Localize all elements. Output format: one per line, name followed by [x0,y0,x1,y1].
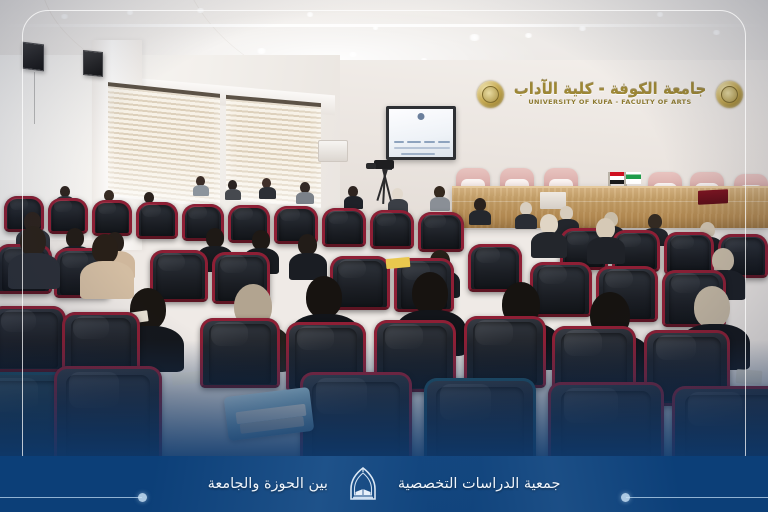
ceiling-light [712,30,721,35]
event-photograph: جامعة الكوفة - كلية الآداب UNIVERSITY OF… [0,0,768,460]
ceiling-light [348,52,358,57]
ceiling-light [656,12,664,17]
ceiling-light [60,14,69,19]
auditorium-seat [200,318,280,388]
university-seal-icon [477,81,504,108]
venue-sign-text: جامعة الكوفة - كلية الآداب UNIVERSITY OF… [514,82,707,106]
ceiling-light [126,10,134,15]
ceiling-light [524,33,533,38]
banner-content: بين الحوزة والجامعة جمعية الدراسات التخص… [0,456,768,512]
ceiling-light [256,48,267,54]
auditorium-seat [300,372,412,460]
auditorium-seat [0,306,66,372]
camera-lens-icon [366,163,376,169]
auditorium-seat [92,200,132,236]
auditorium-seat [548,382,664,460]
auditorium-seat [370,210,414,249]
speaker-cable [34,72,35,124]
camera-body-icon [374,160,394,169]
auditorium-seat [424,378,536,460]
auditorium-seat [54,366,162,460]
auditorium-seat [418,212,464,252]
venue-sign: جامعة الكوفة - كلية الآداب UNIVERSITY OF… [470,72,750,116]
yellow-folder [386,257,411,269]
photo-card: جامعة الكوفة - كلية الآداب UNIVERSITY OF… [0,0,768,512]
air-conditioner [318,140,348,162]
ceiling-light [196,8,205,13]
ceiling-light [306,12,314,17]
bottom-banner: بين الحوزة والجامعة جمعية الدراسات التخص… [0,456,768,512]
ceiling-light [578,26,587,31]
auditorium-seat [322,208,366,247]
dome-book-emblem-icon [346,465,380,503]
venue-sign-arabic: جامعة الكوفة - كلية الآداب [514,82,707,98]
wall-speaker-right [83,50,103,77]
venue-sign-english: UNIVERSITY OF KUFA - FACULTY OF ARTS [514,99,707,106]
faculty-seal-icon [716,81,743,108]
auditorium-seat [672,386,768,460]
auditorium-seat [136,202,178,239]
ceiling-band [0,24,768,27]
auditorium-seat [664,232,714,275]
screen-surface [389,109,453,157]
presentation-screen [386,106,456,160]
slide-logo-icon [418,113,425,120]
wall-speaker-left [22,42,44,72]
banner-slogan-left: بين الحوزة والجامعة [208,476,328,492]
green-white-flag [626,172,641,184]
ceiling-light [372,26,379,30]
banner-organization-name: جمعية الدراسات التخصصية [398,476,561,492]
paper-sheet [736,369,763,385]
ceiling-light [468,34,481,41]
auditorium-seat [48,198,88,234]
iraq-flag [610,172,625,184]
red-laptop-case [698,189,728,205]
